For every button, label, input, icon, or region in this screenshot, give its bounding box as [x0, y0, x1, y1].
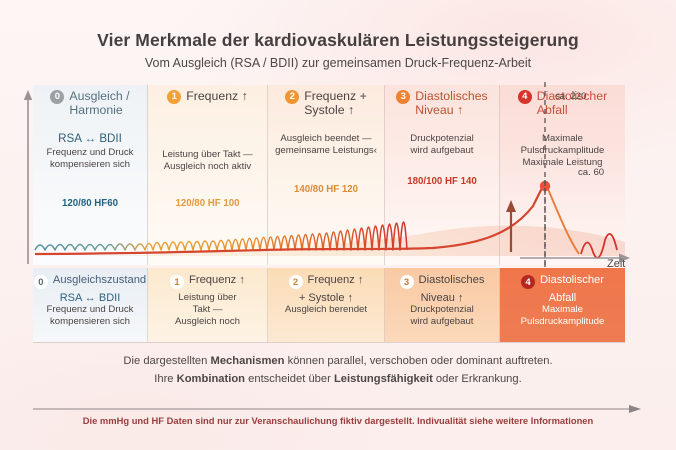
- bottom-panel-4-title-line1: Diastolischer: [540, 274, 604, 287]
- bottom-panel-1-title: Frequenz ↑: [189, 274, 245, 287]
- badge-bottom-4-icon: 4: [521, 275, 535, 289]
- top-panel-0-line2: kompensieren sich: [38, 159, 142, 171]
- badge-3-icon: 3: [396, 90, 410, 104]
- footer-line2-bold1: Kombination: [177, 373, 245, 385]
- top-panel-2-value: 140/80 HF 120: [268, 184, 384, 195]
- top-panel-1-value: 120/80 HF 100: [148, 198, 267, 209]
- bottom-panel-2-title-line2: + Systole ↑: [274, 292, 378, 304]
- badge-2-icon: 2: [285, 90, 299, 104]
- bottom-panel-3-line2: wird aufgebaut: [391, 316, 493, 328]
- bottom-panel-row: 0 Ausgleichszustand RSA ↔ BDII Frequenz …: [33, 268, 625, 342]
- badge-0-icon: 0: [50, 90, 64, 104]
- bottom-panel-3-title-line1: Diastolisches: [419, 274, 485, 287]
- bottom-panel-0-title: Ausgleichszustand: [53, 274, 146, 287]
- top-panel-2-line1: Ausgleich beendet —: [273, 133, 379, 145]
- footer-line2-bold2: Leistungsfähigkeit: [334, 373, 433, 385]
- top-panel-4-title-line2: Abfall: [537, 103, 568, 117]
- top-panel-3-title-line2: Niveau ↑: [415, 103, 463, 117]
- top-panel-2-body: Ausgleich beendet — gemeinsame Leistungs…: [268, 119, 384, 157]
- bottom-panel-4: 4 Diastolischer Abfall Maximale Pulsdruc…: [500, 268, 625, 342]
- badge-bottom-1-icon: 1: [170, 275, 184, 289]
- top-panel-0: 0 Ausgleich / Harmonie RSA ↔ BDII Freque…: [33, 85, 148, 265]
- bottom-panel-0-line2: kompensieren sich: [39, 316, 141, 328]
- footer-line-1: Die dargestellten Mechanismen können par…: [0, 352, 676, 370]
- bottom-panel-0-sub: RSA ↔ BDII: [39, 292, 141, 304]
- top-panel-3-line2: wird aufgebaut: [390, 145, 494, 157]
- bottom-panel-1-line2: Takt —: [154, 304, 261, 316]
- footer-line2-e: oder Erkrankung.: [433, 373, 522, 385]
- top-panel-4-line1: Maximale: [505, 133, 620, 145]
- top-panel-1-line2: Ausgleich noch aktiv: [153, 161, 262, 173]
- top-panel-1-line1: Leistung über Takt —: [153, 149, 262, 161]
- footer-line2-c: entscheidet über: [245, 373, 334, 385]
- badge-1-icon: 1: [167, 90, 181, 104]
- footer-line2-a: Ihre: [154, 373, 176, 385]
- top-panel-0-body: RSA ↔ BDII Frequenz und Druck kompensier…: [33, 119, 147, 172]
- top-panel-0-line1: Frequenz und Druck: [38, 147, 142, 159]
- bottom-panel-0-line1: Frequenz und Druck: [39, 304, 141, 316]
- badge-bottom-2-icon: 2: [289, 275, 303, 289]
- bottom-panel-1: 1 Frequenz ↑ Leistung über Takt — Ausgle…: [148, 268, 268, 342]
- footer-line-2: Ihre Kombination entscheidet über Leistu…: [0, 370, 676, 388]
- footer-line1-c: können parallel, verschoben oder dominan…: [285, 355, 553, 367]
- top-panel-3-value: 180/100 HF 140: [385, 176, 499, 187]
- badge-bottom-3-icon: 3: [400, 275, 414, 289]
- bottom-panel-4-title-line2: Abfall: [506, 292, 619, 304]
- bottom-panel-1-line1: Leistung über: [154, 292, 261, 304]
- footer-divider-arrow: [33, 404, 643, 414]
- top-panel-0-title-line1: Ausgleich /: [69, 89, 129, 103]
- top-panel-0-title-line2: Harmonie: [69, 103, 122, 117]
- top-panel-1: 1 Frequenz ↑ Leistung über Takt — Ausgle…: [148, 85, 268, 265]
- top-panel-0-value: 120/80 HF60: [33, 198, 147, 209]
- disclaimer-text: Die mmHg und HF Daten sind nur zur Veran…: [0, 415, 676, 426]
- top-panel-4-body: Maximale Pulsdruckamplitude Maximale Lei…: [500, 119, 625, 170]
- top-panel-2: 2 Frequenz + Systole ↑ Ausgleich beendet…: [268, 85, 385, 265]
- bottom-panel-2: 2 Frequenz ↑ + Systole ↑ Ausgleich beren…: [268, 268, 385, 342]
- chart-frame: 0 Ausgleich / Harmonie RSA ↔ BDII Freque…: [33, 85, 625, 265]
- bottom-panel-4-line2: Pulsdruckamplitude: [506, 316, 619, 328]
- top-panel-0-header: 0 Ausgleich / Harmonie: [33, 85, 147, 119]
- top-panel-1-title-line1: Frequenz ↑: [186, 89, 248, 103]
- top-panel-1-header: 1 Frequenz ↑: [148, 85, 267, 119]
- bottom-panel-2-title-line1: Frequenz ↑: [308, 274, 364, 287]
- badge-4-icon: 4: [518, 90, 532, 104]
- infographic-page: Vier Merkmale der kardiovaskulären Leist…: [0, 0, 676, 450]
- top-panel-3-title-line1: Diastolisches: [415, 89, 487, 103]
- top-panel-2-line2: gemeinsame Leistungs‹: [273, 145, 379, 157]
- top-panel-3-line1: Druckpotenzial: [390, 133, 494, 145]
- footer-line1-bold: Mechanismen: [211, 355, 285, 367]
- top-panel-2-title-line1: Frequenz +: [304, 89, 367, 103]
- bottom-panel-4-line1: Maximale: [506, 304, 619, 316]
- annotation-peak-high: ca. 220: [555, 91, 586, 102]
- badge-bottom-0-icon: 0: [34, 275, 48, 289]
- top-panel-3-header: 3 Diastolisches Niveau ↑: [385, 85, 499, 119]
- top-panel-0-lead: RSA ↔ BDII: [38, 133, 142, 145]
- top-panel-2-header: 2 Frequenz + Systole ↑: [268, 85, 384, 119]
- top-panel-3: 3 Diastolisches Niveau ↑ Druckpotenzial …: [385, 85, 500, 265]
- page-subtitle: Vom Ausgleich (RSA / BDII) zur gemeinsam…: [0, 56, 676, 70]
- top-panel-1-body: Leistung über Takt — Ausgleich noch akti…: [148, 119, 267, 173]
- bottom-panel-1-line3: Ausgleich noch: [154, 316, 261, 328]
- bottom-panel-3-line1: Druckpotenzial: [391, 304, 493, 316]
- top-panel-row: 0 Ausgleich / Harmonie RSA ↔ BDII Freque…: [33, 85, 625, 265]
- top-panel-4-line2: Pulsdruckamplitude: [505, 145, 620, 157]
- top-panel-3-body: Druckpotenzial wird aufgebaut: [385, 119, 499, 157]
- footer-line1-a: Die dargestellten: [123, 355, 210, 367]
- footer-statement: Die dargestellten Mechanismen können par…: [0, 352, 676, 388]
- page-title: Vier Merkmale der kardiovaskulären Leist…: [0, 30, 676, 51]
- bottom-panel-0: 0 Ausgleichszustand RSA ↔ BDII Frequenz …: [33, 268, 148, 342]
- bottom-panel-2-line1: Ausgleich berendet: [274, 304, 378, 316]
- bottom-panel-3: 3 Diastolisches Niveau ↑ Druckpotenzial …: [385, 268, 500, 342]
- top-panel-2-title-line2: Systole ↑: [304, 103, 354, 117]
- top-panel-4: 4 Diastolischer Abfall Maximale Pulsdruc…: [500, 85, 625, 265]
- annotation-peak-low: ca. 60: [578, 167, 604, 178]
- bottom-panel-3-title-line2: Niveau ↑: [391, 292, 493, 304]
